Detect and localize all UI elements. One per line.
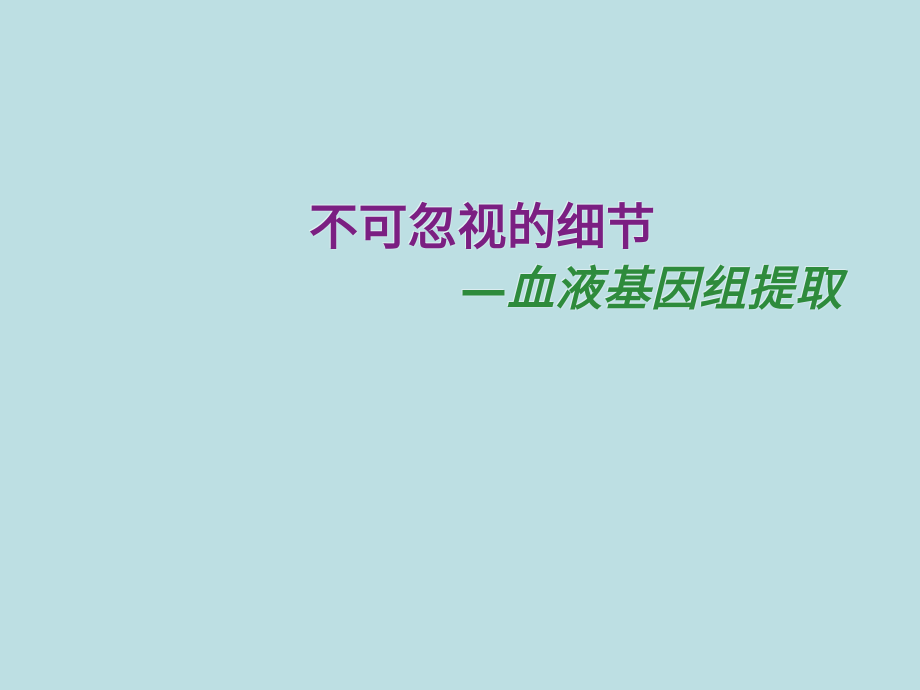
em-dash-glyph: — xyxy=(460,262,507,317)
title-text-box[interactable]: 不可忽视的细节 —血液基因组提取 xyxy=(0,0,920,690)
slide-title-subtitle: —血液基因组提取 xyxy=(460,266,843,313)
slide-title-main: 不可忽视的细节 xyxy=(309,203,656,252)
slide-subtitle-label: 血液基因组提取 xyxy=(507,262,843,317)
slide-canvas: 不可忽视的细节 —血液基因组提取 xyxy=(0,0,920,690)
